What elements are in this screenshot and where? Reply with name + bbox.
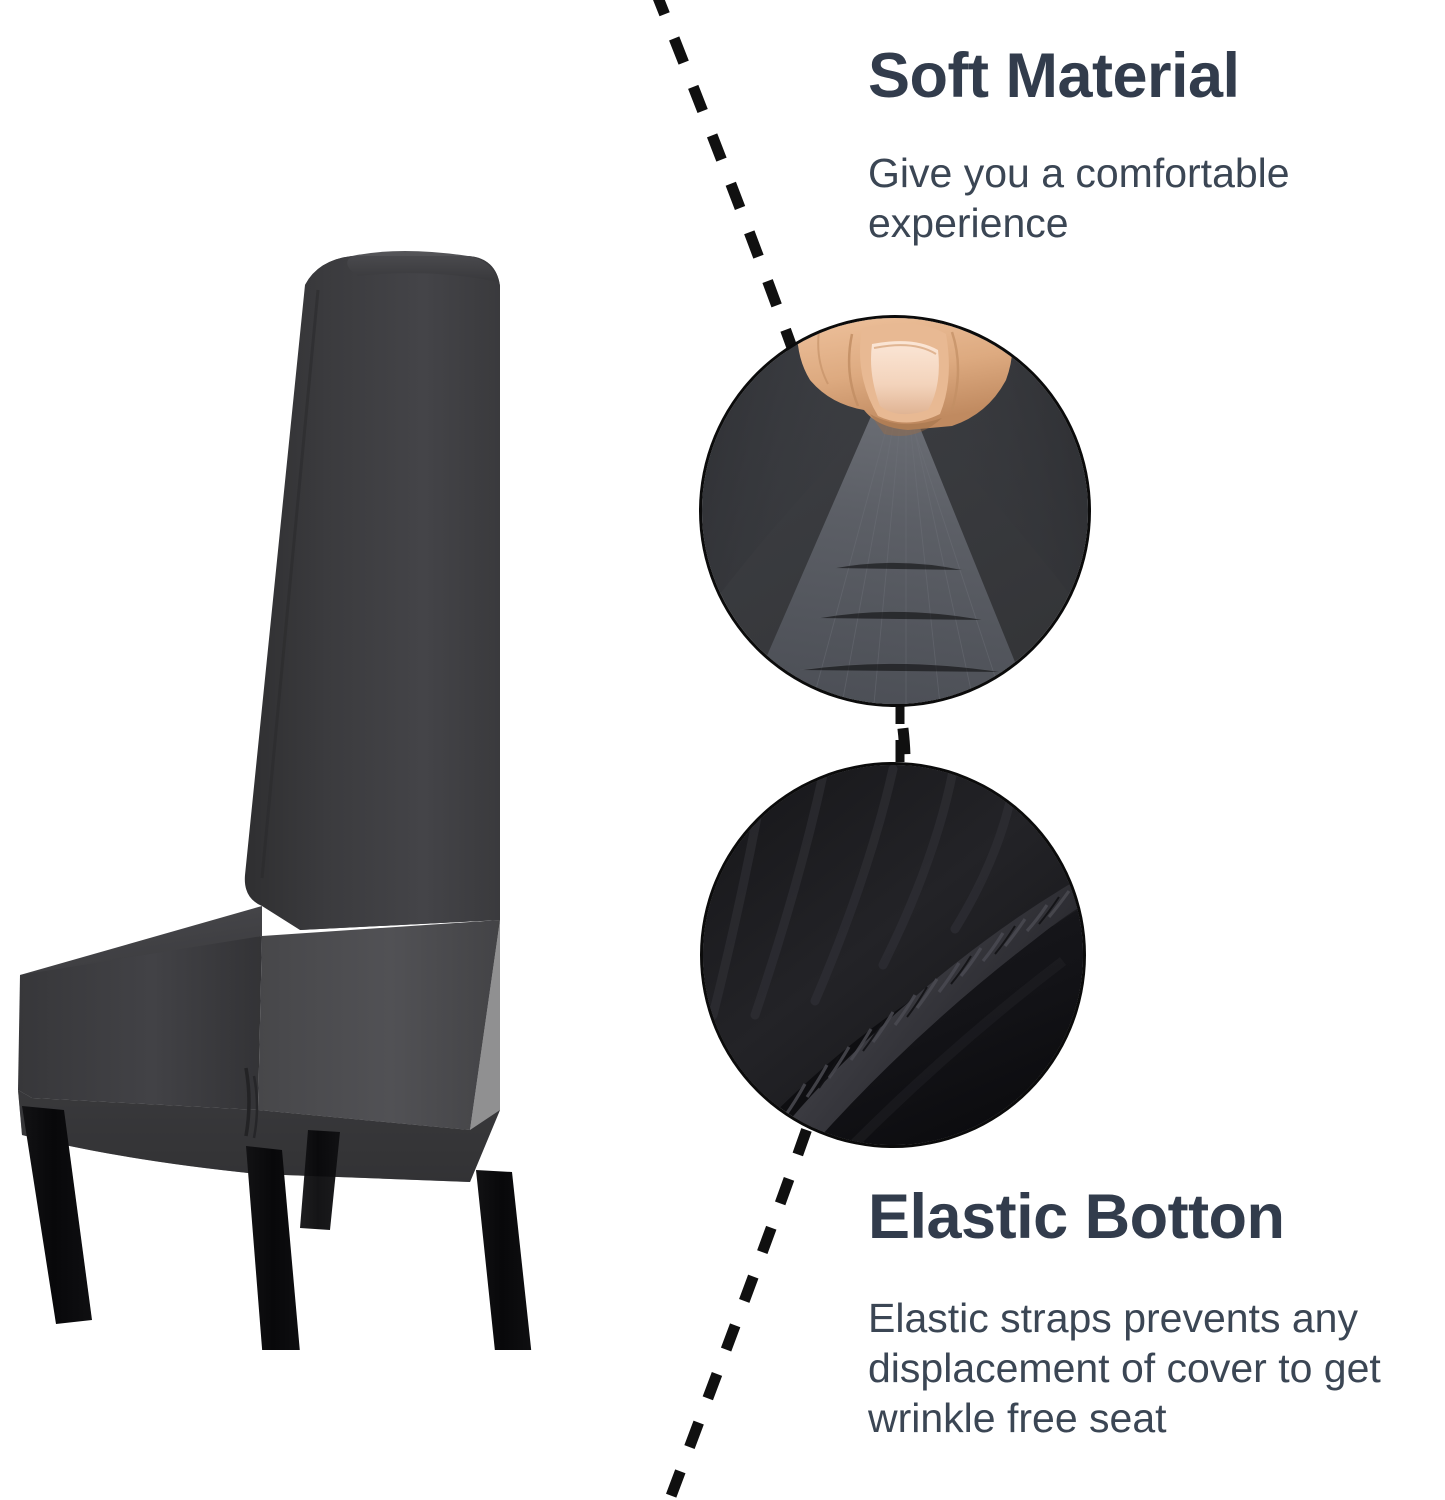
feature-text-elastic-bottom: Elastic Botton Elastic straps prevents a… <box>868 1185 1445 1443</box>
chair-leg-back-right <box>476 1170 534 1350</box>
feature-text-soft-material: Soft Material Give you a comfortable exp… <box>868 44 1445 248</box>
feature-body-top: Give you a comfortable experience <box>868 148 1438 248</box>
detail-circle-elastic <box>703 765 1083 1145</box>
detail-circle-fabric <box>702 318 1088 704</box>
chair-illustration <box>0 230 660 1350</box>
circle-connector <box>880 700 920 770</box>
feature-heading-top: Soft Material <box>868 44 1445 108</box>
fabric-stretch-closeup <box>702 318 1088 704</box>
chair-seat-apron-left <box>18 936 262 1110</box>
feature-heading-bottom: Elastic Botton <box>868 1185 1445 1249</box>
infographic-page: Soft Material Give you a comfortable exp… <box>0 0 1445 1500</box>
elastic-hem-closeup <box>703 765 1083 1145</box>
chair-product-image <box>0 230 660 1350</box>
chair-leg-front-right <box>246 1146 306 1350</box>
chair-backrest-face <box>245 256 500 930</box>
chair-seat-apron-right <box>258 920 500 1130</box>
feature-body-bottom: Elastic straps prevents any displacement… <box>868 1293 1445 1443</box>
fingernail <box>871 341 939 414</box>
